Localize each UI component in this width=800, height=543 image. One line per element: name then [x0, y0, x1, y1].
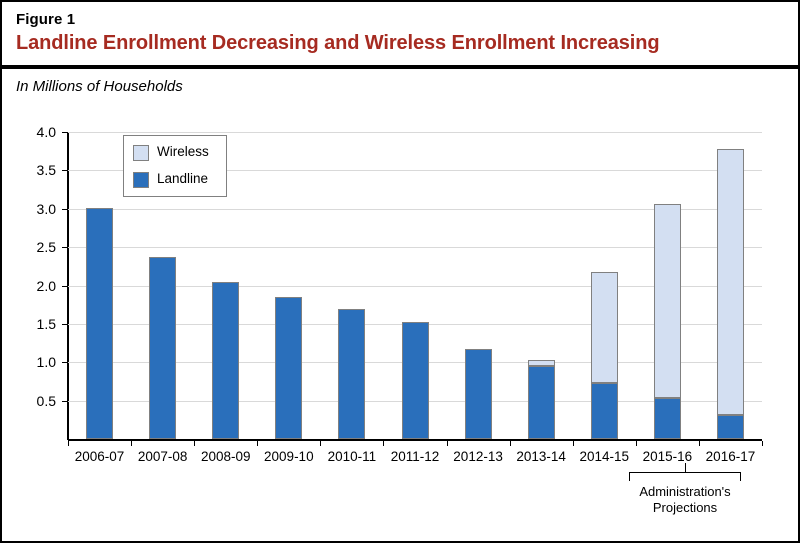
- figure-header: Figure 1 Landline Enrollment Decreasing …: [2, 2, 798, 66]
- header-divider: [2, 65, 798, 69]
- x-axis-tick-mark: [510, 441, 511, 446]
- bar-group[interactable]: [275, 297, 302, 439]
- x-axis-tick-mark: [68, 441, 69, 446]
- bar-segment-wireless[interactable]: [591, 272, 618, 383]
- y-axis-tick-label: 3.5: [16, 162, 56, 178]
- bracket-left-tick: [629, 472, 630, 481]
- y-axis-tick-mark: [62, 247, 68, 248]
- bar-group[interactable]: [338, 309, 365, 439]
- projection-label-line1: Administration's: [602, 484, 768, 500]
- x-axis-tick-mark: [131, 441, 132, 446]
- bar-segment-wireless[interactable]: [717, 149, 744, 415]
- legend-swatch-wireless-icon: [133, 145, 149, 161]
- figure-label: Figure 1: [16, 11, 75, 28]
- bar-segment-landline[interactable]: [591, 383, 618, 439]
- bar-group[interactable]: [591, 272, 618, 439]
- bar-segment-wireless[interactable]: [528, 360, 555, 366]
- legend-swatch-landline-icon: [133, 172, 149, 188]
- bar-segment-landline[interactable]: [402, 322, 429, 439]
- bracket-right-tick: [740, 472, 741, 481]
- gridline: [68, 132, 762, 133]
- x-axis-tick-mark: [194, 441, 195, 446]
- projection-bracket: [629, 472, 741, 483]
- page-title: Landline Enrollment Decreasing and Wirel…: [16, 32, 660, 55]
- y-axis-tick-label: 1.5: [16, 316, 56, 332]
- bar-segment-landline[interactable]: [86, 208, 113, 439]
- y-axis-tick-label: 4.0: [16, 124, 56, 140]
- x-axis-tick-label: 2016-17: [690, 449, 770, 464]
- y-axis-tick-label: 0.5: [16, 393, 56, 409]
- x-axis-tick-mark: [699, 441, 700, 446]
- bar-segment-landline[interactable]: [338, 309, 365, 439]
- x-axis-tick-mark: [762, 441, 763, 446]
- legend-label-landline: Landline: [157, 171, 208, 186]
- y-axis-tick-mark: [62, 286, 68, 287]
- chart-legend: Wireless Landline: [123, 135, 227, 197]
- bar-group[interactable]: [212, 282, 239, 439]
- y-axis-tick-mark: [62, 401, 68, 402]
- bar-segment-landline[interactable]: [717, 415, 744, 439]
- y-axis-tick-mark: [62, 209, 68, 210]
- x-axis-tick-mark: [447, 441, 448, 446]
- bar-group[interactable]: [149, 257, 176, 439]
- bar-group[interactable]: [465, 349, 492, 439]
- x-axis-tick-mark: [383, 441, 384, 446]
- x-axis-tick-mark: [573, 441, 574, 446]
- bar-group[interactable]: [528, 360, 555, 439]
- bar-group[interactable]: [654, 204, 681, 439]
- y-axis-tick-label: 3.0: [16, 201, 56, 217]
- bar-segment-landline[interactable]: [275, 297, 302, 439]
- x-axis-tick-mark: [636, 441, 637, 446]
- y-axis-tick-label: 2.0: [16, 278, 56, 294]
- bar-segment-landline[interactable]: [528, 366, 555, 439]
- y-axis-tick-mark: [62, 132, 68, 133]
- y-axis-tick-mark: [62, 324, 68, 325]
- chart-canvas: 0.51.01.52.02.53.03.54.0 2006-072007-082…: [2, 102, 798, 543]
- projection-label: Administration's Projections: [602, 484, 768, 516]
- y-axis-tick-label: 2.5: [16, 239, 56, 255]
- figure-container: Figure 1 Landline Enrollment Decreasing …: [0, 0, 800, 543]
- x-axis-tick-mark: [320, 441, 321, 446]
- x-axis-tick-mark: [257, 441, 258, 446]
- figure-subtitle: In Millions of Households: [16, 78, 183, 95]
- x-axis-line: [68, 439, 762, 441]
- bracket-stem: [685, 463, 686, 472]
- y-axis-tick-mark: [62, 362, 68, 363]
- legend-label-wireless: Wireless: [157, 144, 209, 159]
- y-axis-tick-label: 1.0: [16, 354, 56, 370]
- bar-group[interactable]: [402, 322, 429, 439]
- bracket-top-line: [629, 472, 741, 473]
- bar-segment-landline[interactable]: [212, 282, 239, 439]
- bar-segment-landline[interactable]: [149, 257, 176, 439]
- bar-segment-landline[interactable]: [465, 349, 492, 439]
- bar-group[interactable]: [86, 208, 113, 439]
- bar-group[interactable]: [717, 149, 744, 439]
- y-axis-tick-mark: [62, 170, 68, 171]
- bar-segment-wireless[interactable]: [654, 204, 681, 398]
- projection-label-line2: Projections: [602, 500, 768, 516]
- bar-segment-landline[interactable]: [654, 398, 681, 439]
